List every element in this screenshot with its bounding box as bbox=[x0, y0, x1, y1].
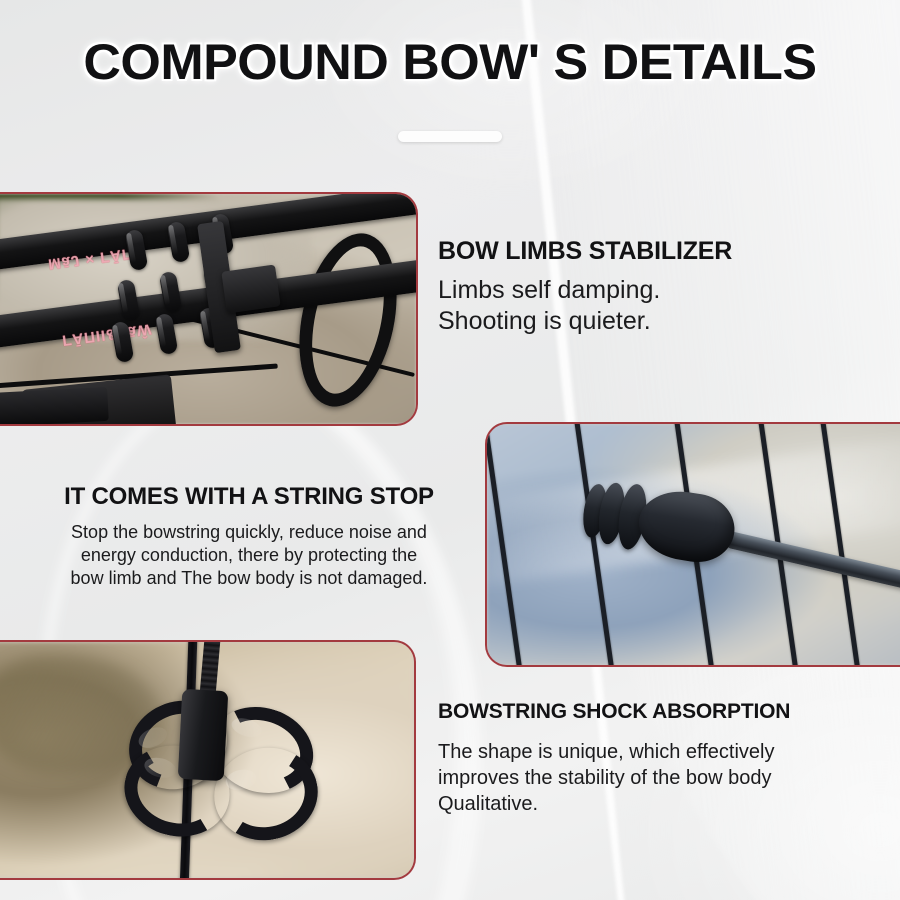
feature-body-line: The shape is unique, which effectively bbox=[438, 739, 890, 765]
feature-block-bowstring-shock-absorption: BOWSTRING SHOCK ABSORPTION The shape is … bbox=[438, 697, 890, 817]
background-glow-top bbox=[300, 0, 720, 200]
infographic-canvas: COMPOUND BOW' S DETAILS MāJ × ΓĀΠ ΓĀΠII&… bbox=[0, 0, 900, 900]
feature-block-string-stop: IT COMES WITH A STRING STOP Stop the bow… bbox=[8, 482, 490, 590]
photo-inner bbox=[487, 424, 900, 665]
feature-body: Stop the bowstring quickly, reduce noise… bbox=[8, 521, 490, 590]
feature-body-line: improves the stability of the bow body bbox=[438, 765, 890, 791]
bumper-head bbox=[634, 485, 739, 567]
feature-body-line: Stop the bowstring quickly, reduce noise… bbox=[8, 521, 490, 544]
page-title: COMPOUND BOW' S DETAILS bbox=[0, 34, 900, 90]
feature-heading: IT COMES WITH A STRING STOP bbox=[8, 482, 490, 512]
bow-limbs-damper-photo: MāJ × ΓĀΠ ΓĀΠII&ΓāŴ bbox=[0, 192, 418, 426]
feature-block-bow-limbs-stabilizer: BOW LIMBS STABILIZER Limbs self damping.… bbox=[438, 236, 888, 337]
photo-inner: MāJ × ΓĀΠ ΓĀΠII&ΓāŴ bbox=[0, 194, 416, 424]
accessory-block bbox=[0, 387, 109, 424]
bowstring-silencer-photo bbox=[0, 640, 416, 880]
title-divider bbox=[398, 131, 502, 142]
feature-body-line: energy conduction, there by protecting t… bbox=[8, 544, 490, 567]
feature-body-line: Qualitative. bbox=[438, 791, 890, 817]
feature-body: The shape is unique, which effectively i… bbox=[438, 739, 890, 817]
feature-heading: BOW LIMBS STABILIZER bbox=[438, 236, 888, 266]
feature-body-line: bow limb and The bow body is not damaged… bbox=[8, 567, 490, 590]
feature-body-line: Limbs self damping. bbox=[438, 275, 888, 306]
photo-inner bbox=[0, 642, 414, 878]
feature-body: Limbs self damping. Shooting is quieter. bbox=[438, 275, 888, 337]
feature-heading: BOWSTRING SHOCK ABSORPTION bbox=[438, 697, 890, 727]
string-stop-photo bbox=[485, 422, 900, 667]
damper-mount-body bbox=[221, 264, 280, 313]
feature-body-line: Shooting is quieter. bbox=[438, 306, 888, 337]
silencer-hub bbox=[178, 689, 229, 781]
